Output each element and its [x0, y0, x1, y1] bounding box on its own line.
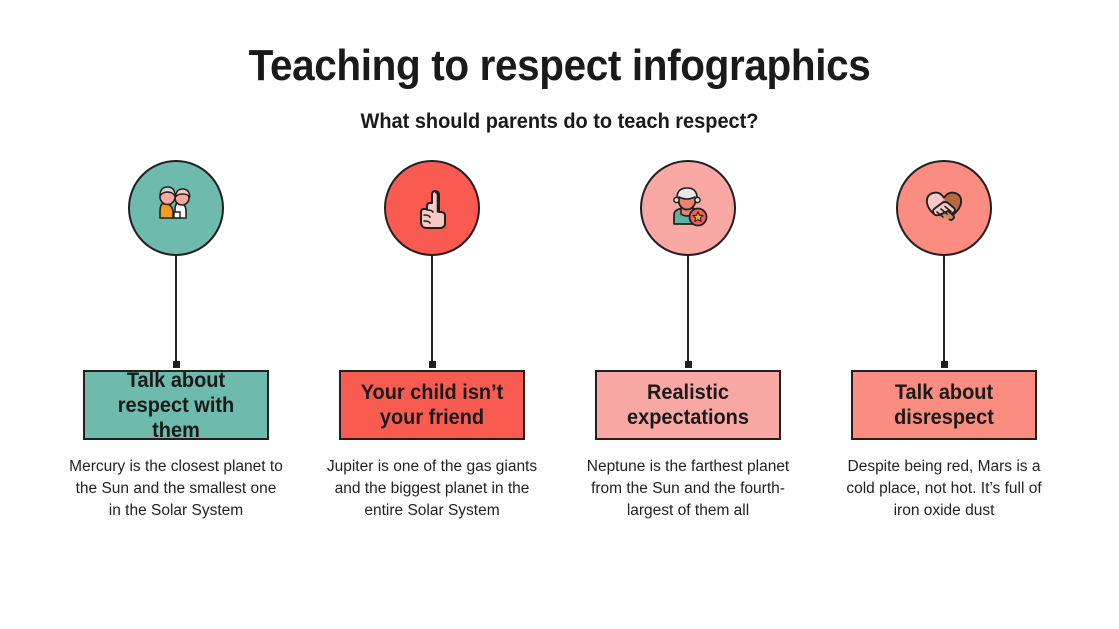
connector-dot-3: [685, 361, 692, 368]
two-people-icon: [150, 182, 202, 234]
page-title: Teaching to respect infographics: [45, 40, 1074, 92]
infographic-column-4: Talk about disrespect Despite being red,…: [828, 160, 1060, 580]
infographic-column-1: Talk about respect with them Mercury is …: [60, 160, 292, 580]
label-text-3: Realistic expectations: [607, 380, 769, 430]
infographic-columns: Talk about respect with them Mercury is …: [60, 160, 1060, 580]
connector-line-1: [175, 256, 177, 361]
body-text-3: Neptune is the farthest planet from the …: [581, 456, 796, 522]
label-text-4: Talk about disrespect: [863, 380, 1025, 430]
connector-dot-4: [941, 361, 948, 368]
label-box-3[interactable]: Realistic expectations: [595, 370, 781, 440]
label-text-1: Talk about respect with them: [95, 368, 257, 443]
icon-circle-1[interactable]: [128, 160, 224, 256]
body-text-2: Jupiter is one of the gas giants and the…: [325, 456, 540, 522]
icon-circle-3[interactable]: [640, 160, 736, 256]
infographic-column-2: Your child isn’t your friend Jupiter is …: [316, 160, 548, 580]
connector-dot-2: [429, 361, 436, 368]
infographic-slide: Teaching to respect infographics What sh…: [0, 0, 1119, 629]
marker-1: [60, 160, 292, 370]
marker-4: [828, 160, 1060, 370]
label-box-4[interactable]: Talk about disrespect: [851, 370, 1037, 440]
page-subtitle: What should parents do to teach respect?: [28, 109, 1091, 135]
marker-3: [572, 160, 804, 370]
pointing-hand-icon: [408, 184, 456, 232]
body-text-1: Mercury is the closest planet to the Sun…: [69, 456, 284, 522]
handshake-heart-icon: [918, 182, 970, 234]
label-box-2[interactable]: Your child isn’t your friend: [339, 370, 525, 440]
person-star-badge-icon: [663, 183, 713, 233]
icon-circle-2[interactable]: [384, 160, 480, 256]
header: Teaching to respect infographics What sh…: [0, 40, 1119, 135]
body-text-4: Despite being red, Mars is a cold place,…: [837, 456, 1052, 522]
connector-line-4: [943, 256, 945, 361]
connector-line-2: [431, 256, 433, 361]
label-box-1[interactable]: Talk about respect with them: [83, 370, 269, 440]
icon-circle-4[interactable]: [896, 160, 992, 256]
connector-line-3: [687, 256, 689, 361]
infographic-column-3: Realistic expectations Neptune is the fa…: [572, 160, 804, 580]
label-text-2: Your child isn’t your friend: [351, 380, 513, 430]
marker-2: [316, 160, 548, 370]
